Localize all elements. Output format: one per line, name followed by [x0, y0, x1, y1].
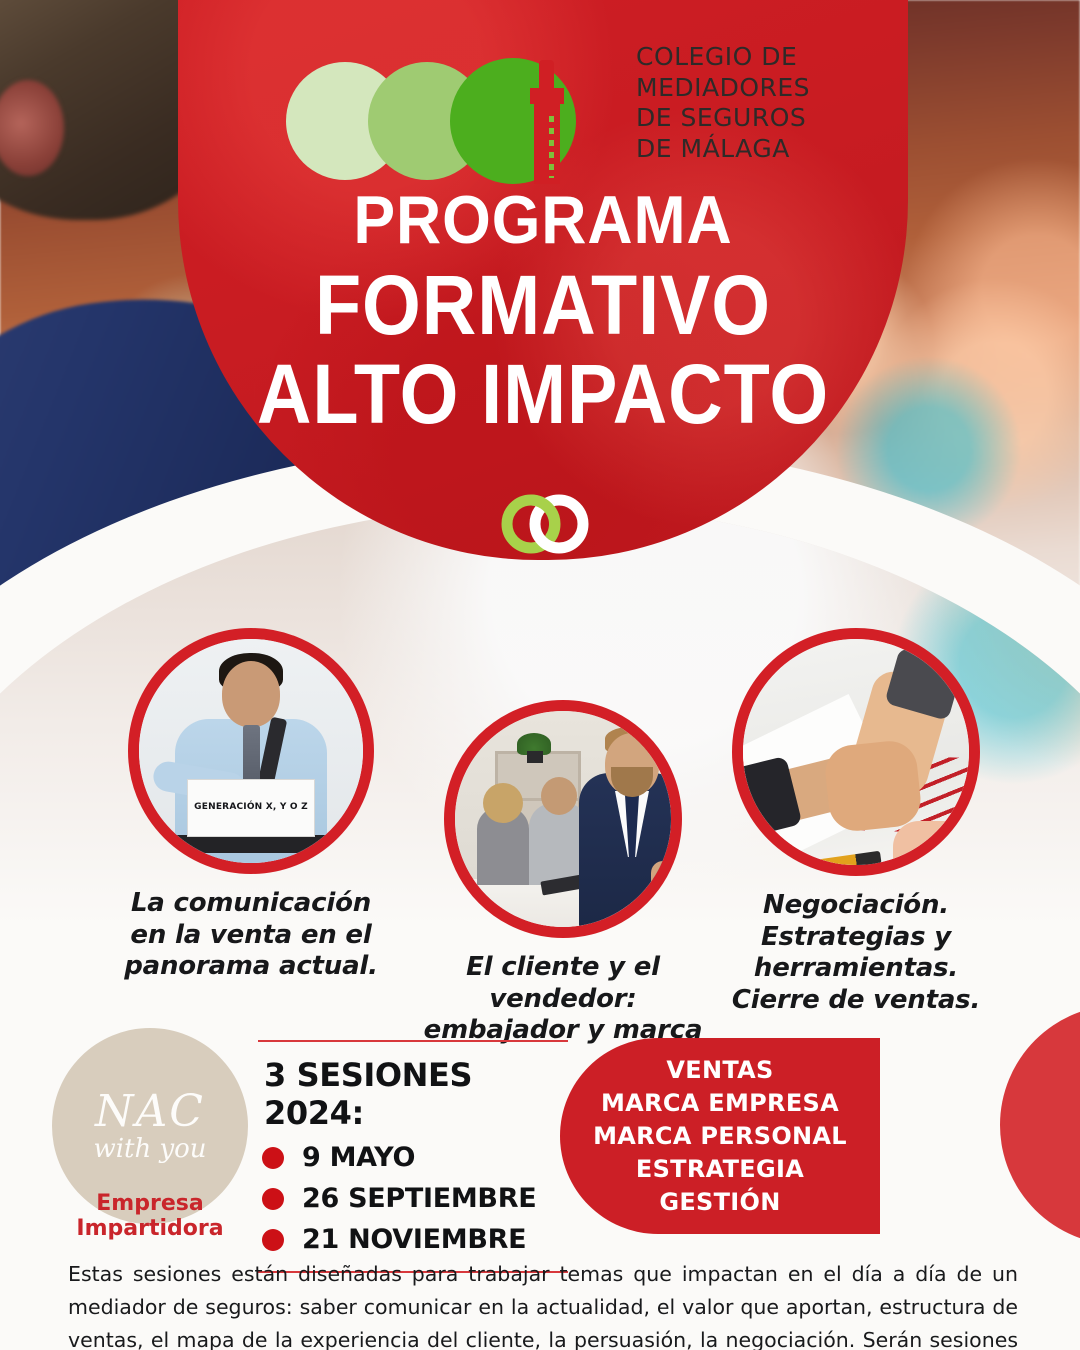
hero-line-2: FORMATIVO: [215, 261, 872, 350]
logo-circles-icon: [278, 28, 618, 178]
topic-card-client-seller: El cliente y el vendedor: embajador y ma…: [418, 700, 708, 1047]
session-date-2: 26 SEPTIEMBRE: [302, 1183, 536, 1214]
subject-item-2: MARCA EMPRESA: [601, 1089, 839, 1117]
provider-role: Empresa Impartidora: [52, 1192, 248, 1241]
session-item-3: 21 NOVIEMBRE: [262, 1224, 568, 1255]
topic-photo-ring-2: [444, 700, 682, 938]
photo3-handshake-grip: [823, 738, 923, 833]
provider-tagline: with you: [93, 1136, 206, 1162]
poster-canvas: COLEGIO DE MEDIADORES DE SEGUROS DE MÁLA…: [0, 0, 1080, 1350]
subjects-panel: VENTAS MARCA EMPRESA MARCA PERSONAL ESTR…: [560, 1038, 880, 1234]
photo1-sign: GENERACIÓN X, Y O Z: [187, 779, 315, 837]
hero-title-block: PROGRAMA FORMATIVO ALTO IMPACTO: [178, 186, 908, 439]
bullet-dot-icon: [262, 1188, 284, 1210]
hero-line-3: ALTO IMPACTO: [215, 350, 872, 439]
subject-item-1: VENTAS: [666, 1056, 773, 1084]
org-name: COLEGIO DE MEDIADORES DE SEGUROS DE MÁLA…: [636, 42, 810, 164]
topic-card-negotiation: Negociación. Estrategias y herramientas.…: [716, 628, 996, 1017]
bullet-dot-icon: [262, 1229, 284, 1251]
description-paragraph: Estas sesiones están diseñadas para trab…: [68, 1258, 1018, 1350]
photo3-open-hand: [893, 821, 979, 876]
topic-caption-3: Negociación. Estrategias y herramientas.…: [716, 890, 996, 1017]
photo1-sign-text: GENERACIÓN X, Y O Z: [194, 801, 308, 815]
sessions-rule-top: [258, 1040, 568, 1042]
photo1-head: [222, 661, 280, 727]
sessions-title: 3 SESIONES 2024:: [264, 1056, 568, 1132]
topic-photo-ring-1: GENERACIÓN X, Y O Z: [128, 628, 374, 874]
subject-item-4: ESTRATEGIA: [636, 1155, 804, 1183]
provider-name: NAC: [95, 1090, 205, 1134]
cathedral-tower-icon: [524, 62, 570, 184]
topic-photo-ring-3: [732, 628, 980, 876]
photo2-plant-pot: [527, 751, 543, 763]
org-logo: COLEGIO DE MEDIADORES DE SEGUROS DE MÁLA…: [278, 28, 838, 178]
bullet-dot-icon: [262, 1147, 284, 1169]
photo2-woman-head: [483, 783, 523, 823]
hero-line-1: PROGRAMA: [207, 186, 879, 255]
topic-caption-2: El cliente y el vendedor: embajador y ma…: [418, 952, 708, 1047]
session-date-1: 9 MAYO: [302, 1142, 415, 1173]
subject-item-5: GESTIÓN: [659, 1188, 780, 1216]
session-item-1: 9 MAYO: [262, 1142, 568, 1173]
photo2-colleague-head: [541, 777, 577, 815]
photo1-belt: [176, 835, 326, 853]
interlocked-rings-icon: [498, 490, 592, 558]
session-date-3: 21 NOVIEMBRE: [302, 1224, 526, 1255]
topic-card-communication: GENERACIÓN X, Y O Z La comunicación en l…: [110, 628, 392, 983]
subject-item-3: MARCA PERSONAL: [593, 1122, 847, 1150]
photo2-thumbs-up: [651, 861, 679, 895]
sessions-panel: 3 SESIONES 2024: 9 MAYO 26 SEPTIEMBRE 21…: [258, 1040, 568, 1273]
session-item-2: 26 SEPTIEMBRE: [262, 1183, 568, 1214]
topic-caption-1: La comunicación en la venta en el panora…: [110, 888, 392, 983]
